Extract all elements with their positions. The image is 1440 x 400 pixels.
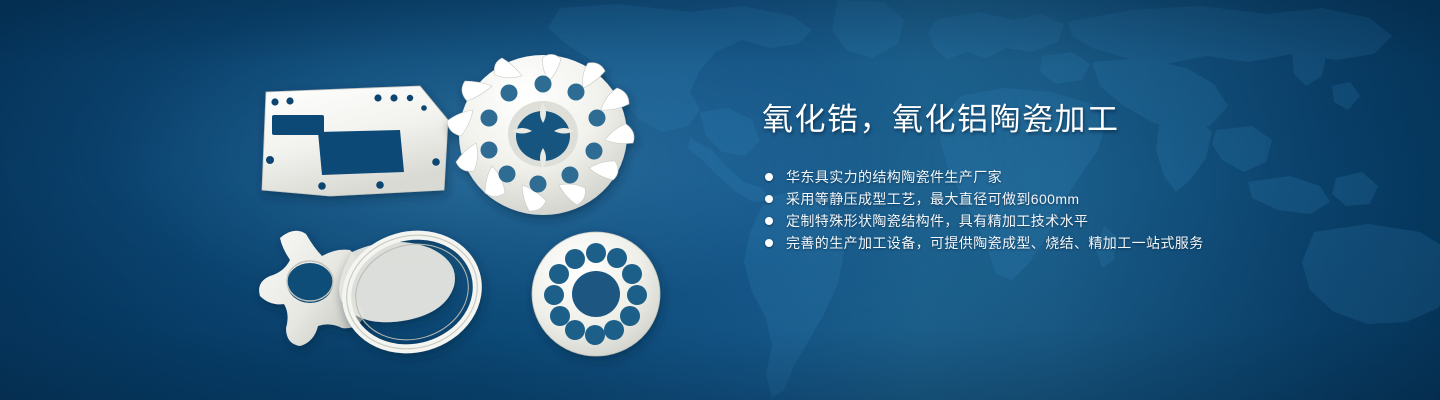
ceramic-products-image: [0, 0, 720, 400]
page-title: 氧化锆，氧化铝陶瓷加工: [762, 104, 1382, 135]
bullet-dot-icon: [765, 239, 773, 247]
bullet-dot-icon: [765, 173, 773, 181]
ceramic-processing-banner: 氧化锆，氧化铝陶瓷加工 华东具实力的结构陶瓷件生产厂家 采用等静压成型工艺，最大…: [0, 0, 1440, 400]
ceramic-impeller-disc: [447, 54, 634, 215]
list-item: 完善的生产加工设备，可提供陶瓷成型、烧结、精加工一站式服务: [765, 232, 1382, 254]
feature-text: 采用等静压成型工艺，最大直径可做到600mm: [786, 188, 1079, 210]
bullet-dot-icon: [765, 217, 773, 225]
banner-copy: 氧化锆，氧化铝陶瓷加工 华东具实力的结构陶瓷件生产厂家 采用等静压成型工艺，最大…: [762, 104, 1382, 254]
ceramic-perforated-disc: [532, 232, 660, 356]
feature-text: 华东具实力的结构陶瓷件生产厂家: [786, 166, 1002, 188]
ceramic-ring: [333, 220, 491, 364]
feature-text: 完善的生产加工设备，可提供陶瓷成型、烧结、精加工一站式服务: [786, 232, 1204, 254]
list-item: 采用等静压成型工艺，最大直径可做到600mm: [765, 188, 1382, 210]
feature-list: 华东具实力的结构陶瓷件生产厂家 采用等静压成型工艺，最大直径可做到600mm 定…: [765, 166, 1382, 254]
list-item: 定制特殊形状陶瓷结构件，具有精加工技术水平: [765, 210, 1382, 232]
bullet-dot-icon: [765, 195, 773, 203]
ceramic-machined-plate: [262, 86, 448, 196]
list-item: 华东具实力的结构陶瓷件生产厂家: [765, 166, 1382, 188]
feature-text: 定制特殊形状陶瓷结构件，具有精加工技术水平: [786, 210, 1088, 232]
